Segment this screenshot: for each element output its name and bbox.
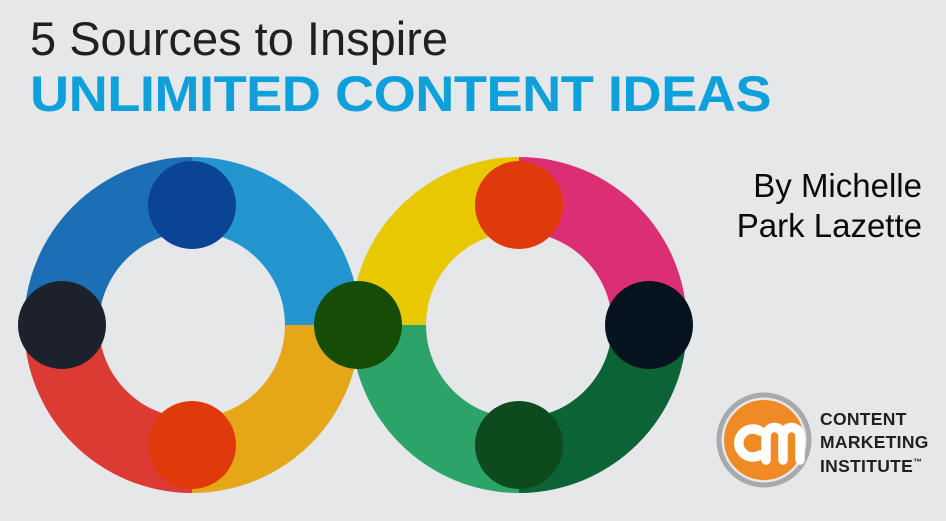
cmi-logo-wordmark: CONTENT MARKETING INSTITUTE™ [820, 408, 929, 478]
byline-line-1: By Michelle [737, 166, 922, 206]
accent-circle-right-top-red [475, 161, 563, 249]
accent-circle-right-bottom-green [475, 401, 563, 489]
accent-circle-left-bottom-red [148, 401, 236, 489]
accent-circle-left-top-navy [148, 161, 236, 249]
byline-line-2: Park Lazette [737, 206, 922, 246]
cmi-word-marketing: MARKETING [820, 431, 929, 454]
cmi-word-content: CONTENT [820, 408, 929, 431]
infinity-graphic [0, 140, 760, 521]
headline-line-2: UNLIMITED CONTENT IDEAS [30, 68, 946, 121]
headline-line-1: 5 Sources to Inspire [30, 14, 930, 65]
accent-circle-center-dark-green [314, 281, 402, 369]
trademark-symbol: ™ [913, 457, 922, 467]
byline-block: By Michelle Park Lazette [737, 166, 922, 247]
cmi-logo-mark [716, 392, 812, 488]
poster-canvas: 5 Sources to Inspire UNLIMITED CONTENT I… [0, 0, 946, 521]
cmi-word-institute-row: INSTITUTE™ [820, 455, 929, 478]
cmi-word-institute: INSTITUTE [820, 456, 913, 476]
headline-block: 5 Sources to Inspire UNLIMITED CONTENT I… [30, 14, 930, 120]
cmi-logo: CONTENT MARKETING INSTITUTE™ [716, 392, 934, 496]
accent-circle-left-charcoal [18, 281, 106, 369]
accent-circle-right-ink [605, 281, 693, 369]
